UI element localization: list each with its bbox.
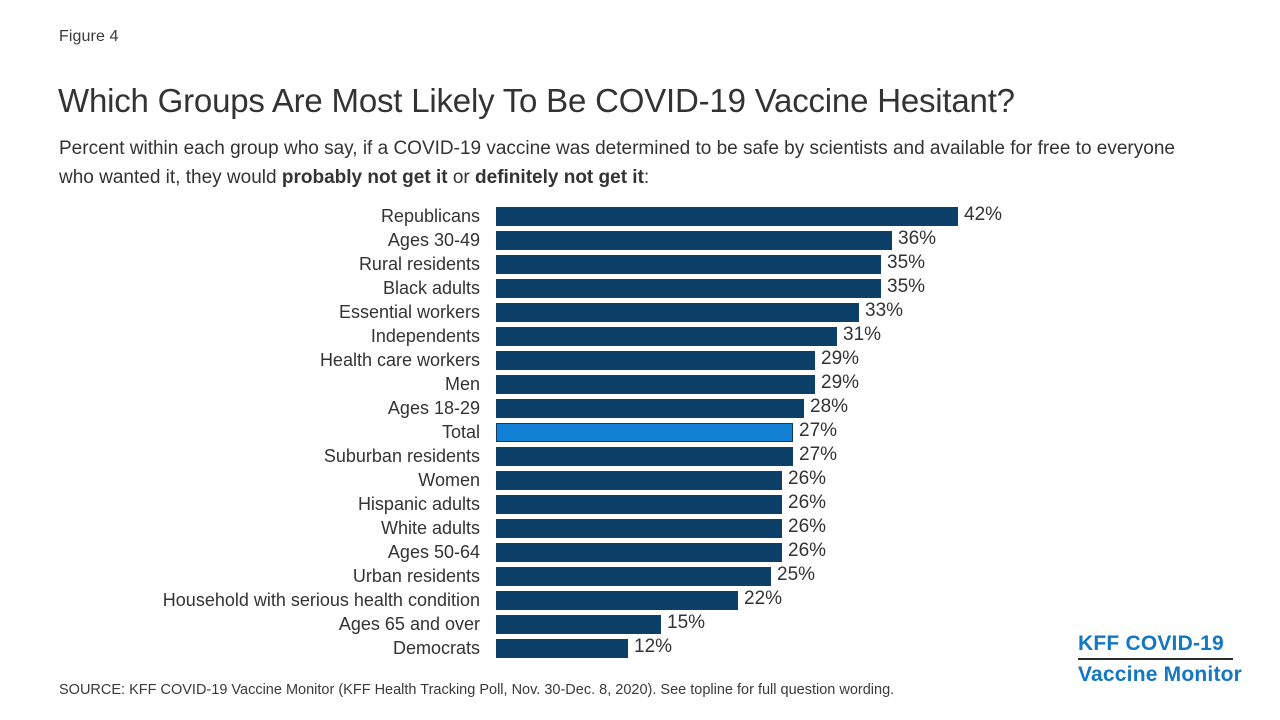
bar-row: Rural residents35% — [0, 253, 1280, 277]
bar-track — [496, 447, 793, 466]
bar-highlighted — [496, 423, 793, 442]
bar — [496, 207, 958, 226]
figure-label: Figure 4 — [59, 28, 119, 46]
bar-row: Health care workers29% — [0, 349, 1280, 373]
bar-track — [496, 375, 815, 394]
bar-row: Republicans42% — [0, 205, 1280, 229]
bar — [496, 399, 804, 418]
bar — [496, 375, 815, 394]
bar-category-label: Independents — [60, 325, 480, 347]
bar-track — [496, 591, 738, 610]
bar-value-label: 42% — [964, 204, 1002, 225]
bar — [496, 495, 782, 514]
bar — [496, 519, 782, 538]
bar-chart: Republicans42%Ages 30-4936%Rural residen… — [0, 205, 1280, 661]
kff-covid-vaccine-monitor-logo: KFF COVID-19 Vaccine Monitor — [1078, 632, 1258, 687]
bar-category-label: Essential workers — [60, 301, 480, 323]
bar-row: Household with serious health condition2… — [0, 589, 1280, 613]
bar-value-label: 15% — [667, 612, 705, 633]
chart-subtitle: Percent within each group who say, if a … — [59, 134, 1179, 192]
bar-category-label: Rural residents — [60, 253, 480, 275]
bar-value-label: 26% — [788, 468, 826, 489]
bar — [496, 543, 782, 562]
bar — [496, 615, 661, 634]
bar-category-label: Total — [60, 421, 480, 443]
bar-track — [496, 399, 804, 418]
logo-divider — [1078, 658, 1233, 660]
bar-track — [496, 543, 782, 562]
bar-value-label: 12% — [634, 636, 672, 657]
bar-value-label: 31% — [843, 324, 881, 345]
bar-category-label: Men — [60, 373, 480, 395]
page-title: Which Groups Are Most Likely To Be COVID… — [58, 82, 1015, 120]
bar-row: Essential workers33% — [0, 301, 1280, 325]
bar-value-label: 33% — [865, 300, 903, 321]
bar-value-label: 26% — [788, 492, 826, 513]
bar-track — [496, 255, 881, 274]
bar-track — [496, 351, 815, 370]
bar-category-label: Ages 50-64 — [60, 541, 480, 563]
bar — [496, 351, 815, 370]
bar-row: Men29% — [0, 373, 1280, 397]
bar-row: Independents31% — [0, 325, 1280, 349]
bar-category-label: Women — [60, 469, 480, 491]
bar-track — [496, 423, 793, 442]
bar — [496, 567, 771, 586]
bar-track — [496, 303, 859, 322]
bar-value-label: 28% — [810, 396, 848, 417]
source-note: SOURCE: KFF COVID-19 Vaccine Monitor (KF… — [59, 682, 894, 698]
bar-row: Urban residents25% — [0, 565, 1280, 589]
bar-track — [496, 615, 661, 634]
bar — [496, 639, 628, 658]
bar-category-label: Hispanic adults — [60, 493, 480, 515]
bar-track — [496, 327, 837, 346]
bar-category-label: Ages 65 and over — [60, 613, 480, 635]
bar-track — [496, 567, 771, 586]
bar-row: Women26% — [0, 469, 1280, 493]
bar-track — [496, 279, 881, 298]
bar — [496, 327, 837, 346]
subtitle-bold-1: probably not get it — [282, 167, 448, 188]
bar-value-label: 36% — [898, 228, 936, 249]
bar — [496, 231, 892, 250]
bar-value-label: 35% — [887, 276, 925, 297]
logo-line-1: KFF COVID-19 — [1078, 632, 1258, 656]
bar-value-label: 26% — [788, 540, 826, 561]
bar-category-label: Ages 18-29 — [60, 397, 480, 419]
bar-value-label: 27% — [799, 420, 837, 441]
bar-row: Ages 30-4936% — [0, 229, 1280, 253]
logo-line-2: Vaccine Monitor — [1078, 663, 1258, 687]
subtitle-mid: or — [448, 167, 475, 188]
bar — [496, 447, 793, 466]
bar — [496, 471, 782, 490]
bar-category-label: Black adults — [60, 277, 480, 299]
bar-category-label: Urban residents — [60, 565, 480, 587]
bar-row: Suburban residents27% — [0, 445, 1280, 469]
bar-value-label: 22% — [744, 588, 782, 609]
bar-row: Black adults35% — [0, 277, 1280, 301]
bar-category-label: White adults — [60, 517, 480, 539]
bar-row: Ages 18-2928% — [0, 397, 1280, 421]
bar-category-label: Republicans — [60, 205, 480, 227]
subtitle-bold-2: definitely not get it — [475, 167, 644, 188]
bar — [496, 303, 859, 322]
bar-row: Total27% — [0, 421, 1280, 445]
bar-category-label: Democrats — [60, 637, 480, 659]
bar-value-label: 29% — [821, 372, 859, 393]
bar-value-label: 26% — [788, 516, 826, 537]
bar-track — [496, 231, 892, 250]
bar-value-label: 35% — [887, 252, 925, 273]
bar-track — [496, 519, 782, 538]
bar-value-label: 29% — [821, 348, 859, 369]
bar — [496, 279, 881, 298]
bar-category-label: Household with serious health condition — [60, 589, 480, 611]
bar — [496, 255, 881, 274]
bar-track — [496, 495, 782, 514]
bar-track — [496, 639, 628, 658]
bar-category-label: Ages 30-49 — [60, 229, 480, 251]
bar-value-label: 25% — [777, 564, 815, 585]
bar-row: Hispanic adults26% — [0, 493, 1280, 517]
bar-category-label: Health care workers — [60, 349, 480, 371]
bar-track — [496, 471, 782, 490]
bar-category-label: Suburban residents — [60, 445, 480, 467]
bar-row: White adults26% — [0, 517, 1280, 541]
bar-track — [496, 207, 958, 226]
bar-row: Ages 50-6426% — [0, 541, 1280, 565]
subtitle-part-2: : — [644, 167, 649, 188]
bar-value-label: 27% — [799, 444, 837, 465]
bar — [496, 591, 738, 610]
